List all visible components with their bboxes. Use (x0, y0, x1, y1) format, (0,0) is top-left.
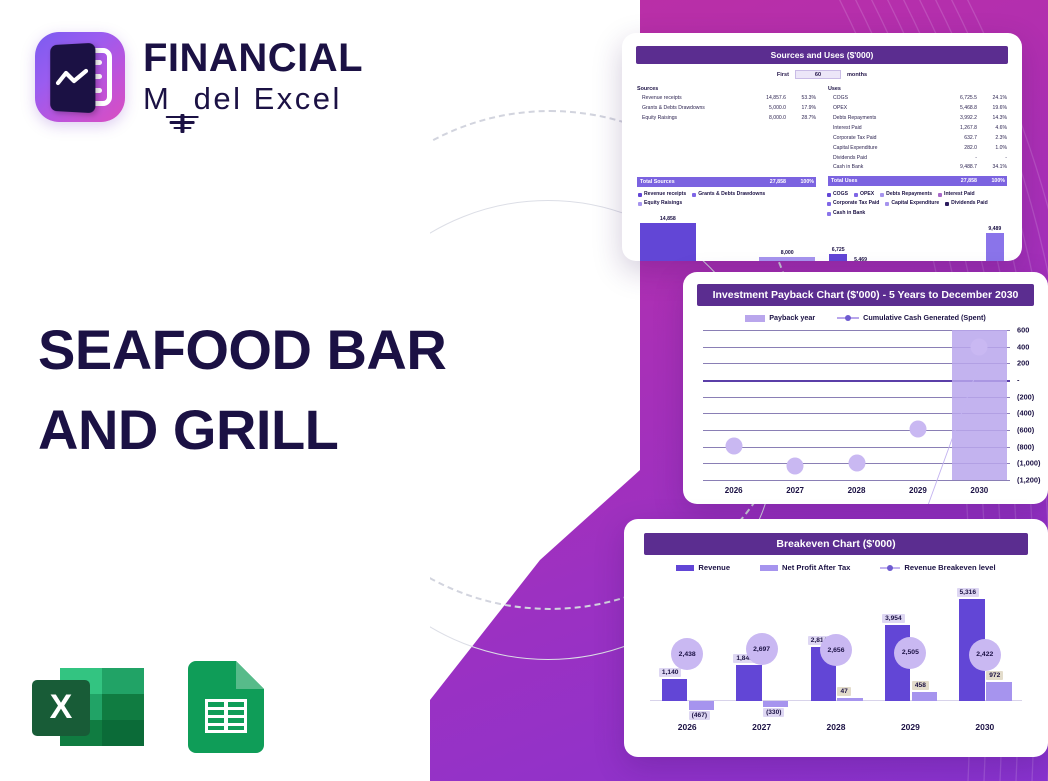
breakeven-level-point: 2,505 (894, 637, 926, 669)
row-pct: 24.1% (977, 94, 1007, 104)
npat-bar (912, 692, 937, 701)
payback-legend-label-0: Payback year (769, 313, 815, 322)
legend-item: Corporate Tax Paid (827, 199, 879, 209)
npat-bar (763, 701, 788, 707)
brand-line2-prefix: M (143, 81, 171, 116)
legend-item: Interest Paid (938, 190, 975, 200)
total-uses-label: Total Uses (828, 178, 939, 184)
row-label: Revenue receipts (637, 94, 748, 104)
row-value: 282.0 (939, 144, 977, 154)
bar-column: 8,000 (759, 209, 815, 261)
period-selector: First 60 months (632, 70, 1012, 79)
row-label: Dividends Paid (828, 154, 939, 164)
row-value: 632.7 (939, 134, 977, 144)
table-row: Revenue receipts14,857.653.3% (637, 94, 816, 104)
bar-value-label: 9,489 (988, 226, 1001, 232)
uses-bars: 6,7255,4693,9921,26863328209,489 (827, 219, 1006, 261)
y-axis-tick-label: (400) (1010, 409, 1034, 418)
legend-swatch (638, 193, 642, 197)
row-value: 9,488.7 (939, 163, 977, 173)
breakeven-level-point: 2,697 (746, 633, 778, 665)
legend-item: Grants & Debts Drawdowns (692, 190, 765, 200)
revenue-bar (662, 679, 687, 701)
row-pct: 1.0% (977, 144, 1007, 154)
npat-value-label: 458 (912, 681, 929, 690)
npat-bar (837, 698, 862, 701)
trend-zigzag-icon (55, 68, 91, 88)
sources-column: Sources Revenue receipts14,857.653.3%Gra… (637, 86, 816, 187)
page-title: SEAFOOD BAR AND GRILL (38, 310, 498, 469)
bar-group: 1,140(467)2,438 (650, 594, 724, 714)
legend-label: Interest Paid (944, 190, 975, 200)
brand-logo: FINANCIAL Mdel Excel (35, 32, 363, 122)
legend-item: Revenue receipts (638, 190, 686, 200)
legend-swatch (854, 193, 858, 197)
row-value: 6,725.5 (939, 94, 977, 104)
breakeven-legend-item-level: Revenue Breakeven level (880, 563, 995, 572)
period-prefix-label: First (777, 72, 789, 78)
bar-value-label: 8,000 (781, 250, 794, 256)
payback-title: Investment Payback Chart ($'000) - 5 Yea… (697, 284, 1034, 306)
npat-value-label: (467) (689, 711, 710, 720)
revenue-bar (736, 665, 761, 700)
legend-label: Revenue receipts (644, 190, 686, 200)
table-row: Capital Expenditure282.01.0% (828, 144, 1007, 154)
table-row: COGS6,725.524.1% (828, 94, 1007, 104)
y-axis-tick-label: 200 (1010, 359, 1029, 368)
revenue-value-label: 5,316 (957, 588, 980, 597)
data-point (725, 437, 742, 454)
sources-padding (637, 124, 816, 174)
row-pct: - (977, 154, 1007, 164)
row-label: Cash in Bank (828, 163, 939, 173)
breakeven-legend-label-1: Net Profit After Tax (782, 563, 850, 572)
bar-group: 3,9544582,505 (873, 594, 947, 714)
payback-line-series (703, 330, 1010, 504)
file-format-icons: X (32, 661, 264, 753)
row-pct: 34.1% (977, 163, 1007, 173)
bar (640, 223, 696, 261)
bar-column: 5,469 (851, 219, 869, 261)
payback-line-swatch (837, 317, 859, 319)
breakeven-legend-label-0: Revenue (698, 563, 730, 572)
legend-label: Debts Repayments (886, 190, 932, 200)
legend-item: OPEX (854, 190, 874, 200)
y-axis-tick-label: 600 (1010, 326, 1029, 335)
row-pct: 17.9% (786, 104, 816, 114)
payback-legend-item-line: Cumulative Cash Generated (Spent) (837, 313, 986, 322)
payback-band-swatch (745, 315, 765, 322)
legend-label: Equity Raisings (644, 199, 682, 209)
row-pct: 14.3% (977, 114, 1007, 124)
sources-uses-charts: Revenue receiptsGrants & Debts Drawdowns… (632, 190, 1012, 261)
sources-bar-chart: Revenue receiptsGrants & Debts Drawdowns… (638, 190, 817, 261)
sources-and-uses-card: Sources and Uses ($'000) First 60 months… (622, 33, 1022, 261)
uses-bar-chart: COGSOPEXDebts RepaymentsInterest PaidCor… (827, 190, 1006, 261)
row-label: Capital Expenditure (828, 144, 939, 154)
y-axis-tick-label: - (1010, 376, 1019, 385)
y-axis-tick-label: (1,000) (1010, 459, 1040, 468)
data-point (909, 421, 926, 438)
row-label: Debts Repayments (828, 114, 939, 124)
row-pct: 53.3% (786, 94, 816, 104)
legend-item: Capital Expenditure (885, 199, 939, 209)
sources-uses-table: Sources Revenue receipts14,857.653.3%Gra… (632, 86, 1012, 187)
table-row: Cash in Bank9,488.734.1% (828, 163, 1007, 173)
sources-chart-legend: Revenue receiptsGrants & Debts Drawdowns… (638, 190, 817, 209)
row-value: 8,000.0 (748, 114, 786, 124)
brand-line2-suffix: del Excel (194, 81, 342, 116)
npat-bar (689, 701, 714, 710)
table-row: Dividends Paid-- (828, 154, 1007, 164)
bar-group: 1,848(330)2,697 (724, 594, 798, 714)
uses-column: Uses COGS6,725.524.1%OPEX5,468.819.6%Deb… (828, 86, 1007, 187)
total-uses-row: Total Uses 27,858 100% (828, 176, 1007, 186)
y-axis-tick-label: (200) (1010, 392, 1034, 401)
payback-plot: 600400200-(200)(400)(600)(800)(1,000)(1,… (703, 330, 1010, 480)
legend-swatch (945, 202, 949, 206)
uses-chart-legend: COGSOPEXDebts RepaymentsInterest PaidCor… (827, 190, 1006, 219)
period-suffix-label: months (847, 72, 867, 78)
period-months-input[interactable]: 60 (795, 70, 841, 79)
bar-group: 2,814472,656 (799, 594, 873, 714)
row-label: Equity Raisings (637, 114, 748, 124)
legend-swatch (880, 193, 884, 197)
row-label: COGS (828, 94, 939, 104)
sources-row-list: Revenue receipts14,857.653.3%Grants & De… (637, 94, 816, 124)
brand-name-line2: Mdel Excel (143, 82, 363, 116)
row-value: 5,468.8 (939, 104, 977, 114)
svg-text:X: X (50, 688, 73, 726)
data-point (971, 338, 988, 355)
revenue-swatch (676, 565, 694, 571)
legend-label: COGS (833, 190, 848, 200)
breakeven-title: Breakeven Chart ($'000) (644, 533, 1028, 555)
table-row: Debts Repayments3,992.214.3% (828, 114, 1007, 124)
breakeven-level-point: 2,438 (671, 638, 703, 670)
row-value: 5,000.0 (748, 104, 786, 114)
legend-item: COGS (827, 190, 848, 200)
investment-payback-card: Investment Payback Chart ($'000) - 5 Yea… (683, 272, 1048, 504)
payback-legend: Payback year Cumulative Cash Generated (… (691, 313, 1040, 322)
bar-column: 633 (919, 219, 937, 261)
table-row: OPEX5,468.819.6% (828, 104, 1007, 114)
npat-value-label: 47 (837, 687, 850, 696)
row-value: - (939, 154, 977, 164)
bar-column: 1,268 (896, 219, 914, 261)
bar-column: 6,725 (829, 219, 847, 261)
legend-item: Debts Repayments (880, 190, 932, 200)
row-label: OPEX (828, 104, 939, 114)
legend-swatch (692, 193, 696, 197)
row-label: Interest Paid (828, 124, 939, 134)
total-sources-pct: 100% (786, 179, 816, 185)
row-pct: 2.3% (977, 134, 1007, 144)
row-label: Corporate Tax Paid (828, 134, 939, 144)
legend-label: OPEX (860, 190, 874, 200)
npat-bar (986, 682, 1011, 701)
revenue-value-label: 3,954 (882, 614, 905, 623)
legend-label: Capital Expenditure (891, 199, 939, 209)
breakeven-card: Breakeven Chart ($'000) Revenue Net Prof… (624, 519, 1048, 757)
legend-swatch (827, 202, 831, 206)
table-row: Grants & Debts Drawdowns5,000.017.9% (637, 104, 816, 114)
bar-column: 3,992 (874, 219, 892, 261)
uses-header: Uses (828, 86, 1007, 92)
row-pct: 19.6% (977, 104, 1007, 114)
breakeven-legend-label-2: Revenue Breakeven level (904, 563, 995, 572)
y-axis-tick-label: 400 (1010, 342, 1029, 351)
row-pct: 28.7% (786, 114, 816, 124)
bar-value-label: 14,858 (660, 216, 676, 222)
table-row: Equity Raisings8,000.028.7% (637, 114, 816, 124)
legend-swatch (885, 202, 889, 206)
total-sources-row: Total Sources 27,858 100% (637, 177, 816, 187)
payback-legend-item-band: Payback year (745, 313, 815, 322)
legend-item: Cash in Bank (827, 209, 865, 219)
row-pct: 4.6% (977, 124, 1007, 134)
microsoft-excel-icon[interactable]: X (32, 664, 144, 750)
y-axis-tick-label: (600) (1010, 426, 1034, 435)
bar-column: 9,489 (986, 219, 1004, 261)
bar-value-label: 6,725 (832, 247, 845, 253)
breakeven-level-point: 2,422 (969, 639, 1001, 671)
total-sources-value: 27,858 (748, 179, 786, 185)
data-point (848, 455, 865, 472)
legend-label: Grants & Debts Drawdowns (698, 190, 765, 200)
legend-swatch (827, 193, 831, 197)
row-label: Grants & Debts Drawdowns (637, 104, 748, 114)
table-row: Interest Paid1,267.84.6% (828, 124, 1007, 134)
sources-uses-title: Sources and Uses ($'000) (636, 46, 1008, 64)
row-value: 3,992.2 (939, 114, 977, 124)
total-uses-pct: 100% (977, 178, 1007, 184)
breakeven-level-swatch (880, 567, 900, 569)
row-value: 1,267.8 (939, 124, 977, 134)
legend-label: Corporate Tax Paid (833, 199, 879, 209)
legend-item: Dividends Paid (945, 199, 988, 209)
bar (829, 254, 847, 261)
table-row: Corporate Tax Paid632.72.3% (828, 134, 1007, 144)
breakeven-legend: Revenue Net Profit After Tax Revenue Bre… (636, 563, 1036, 572)
legend-swatch (638, 202, 642, 206)
payback-legend-label-1: Cumulative Cash Generated (Spent) (863, 313, 986, 322)
bar-group: 5,3169722,422 (948, 594, 1022, 714)
bar (986, 233, 1004, 261)
legend-label: Dividends Paid (951, 199, 988, 209)
y-axis-tick-label: (800) (1010, 442, 1034, 451)
npat-value-label: (330) (763, 708, 784, 717)
financial-model-excel-logo-icon (35, 32, 125, 122)
legend-swatch (938, 193, 942, 197)
total-sources-label: Total Sources (637, 179, 748, 185)
breakeven-legend-item-revenue: Revenue (676, 563, 730, 572)
sources-header: Sources (637, 86, 816, 92)
y-axis-tick-label: (1,200) (1010, 476, 1040, 485)
bar-column: 14,858 (640, 209, 696, 261)
total-uses-value: 27,858 (939, 178, 977, 184)
legend-label: Cash in Bank (833, 209, 865, 219)
npat-swatch (760, 565, 778, 571)
breakeven-legend-item-npat: Net Profit After Tax (760, 563, 850, 572)
legend-swatch (827, 212, 831, 216)
bar (759, 257, 815, 261)
bar-column: 5,000 (700, 209, 756, 261)
npat-value-label: 972 (986, 671, 1003, 680)
legend-item: Equity Raisings (638, 199, 682, 209)
data-point (787, 457, 804, 474)
bar-column: 282 (941, 219, 959, 261)
poster-canvas: FINANCIAL Mdel Excel SEAFOOD BAR AND GRI… (0, 0, 1048, 781)
bar-column: 0 (963, 219, 981, 261)
bar-value-label: 5,469 (854, 257, 867, 261)
row-value: 14,857.6 (748, 94, 786, 104)
revenue-value-label: 1,140 (659, 668, 682, 677)
breakeven-plot: 1,140(467)2,4381,848(330)2,6972,814472,6… (650, 594, 1022, 714)
breakeven-level-point: 2,656 (820, 634, 852, 666)
uses-row-list: COGS6,725.524.1%OPEX5,468.819.6%Debts Re… (828, 94, 1007, 173)
sources-bars: 14,8585,0008,000 (638, 209, 817, 261)
brand-name-line1: FINANCIAL (143, 38, 363, 78)
google-sheets-icon[interactable] (188, 661, 264, 753)
